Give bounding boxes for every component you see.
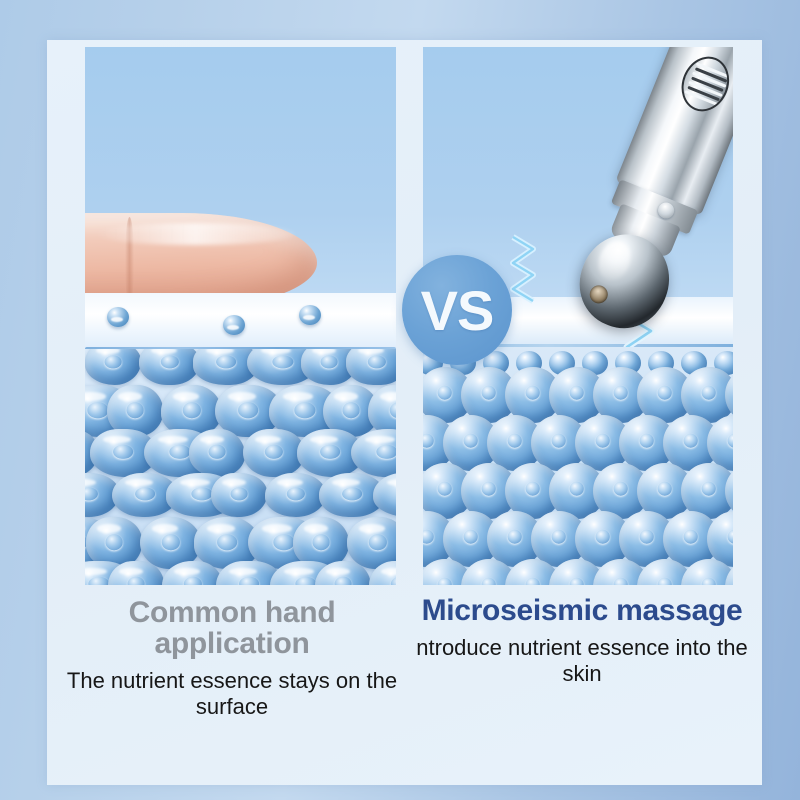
cell-nucleus xyxy=(88,577,109,585)
cell-nucleus xyxy=(701,577,716,585)
cell-nucleus xyxy=(701,385,716,400)
cell-nucleus xyxy=(463,433,478,448)
cell-nucleus xyxy=(367,356,385,369)
essence-droplet-icon xyxy=(223,315,245,335)
cell-highlight xyxy=(85,568,107,576)
cell-highlight xyxy=(283,392,313,400)
cell-highlight xyxy=(174,568,200,576)
cell-highlight xyxy=(85,392,106,400)
cell-highlight xyxy=(387,479,395,486)
cell-nucleus xyxy=(217,534,237,550)
cell-highlight xyxy=(207,524,235,532)
cell-highlight xyxy=(97,524,121,532)
cell-nucleus xyxy=(639,433,654,448)
cell-nucleus xyxy=(294,402,315,418)
cell-highlight xyxy=(261,349,291,354)
cell-nucleus xyxy=(183,577,201,585)
cell-highlight xyxy=(228,392,256,400)
cell-nucleus xyxy=(128,577,145,585)
dense-skin-cells-icon xyxy=(423,347,734,585)
cell-nucleus xyxy=(613,481,628,496)
cell-nucleus xyxy=(106,534,123,550)
cell-highlight xyxy=(312,349,336,354)
cell-highlight xyxy=(103,436,131,444)
cell-highlight xyxy=(119,568,143,576)
cell-nucleus xyxy=(272,356,293,369)
cell-highlight xyxy=(229,568,257,576)
cell-nucleus xyxy=(551,433,566,448)
cell-highlight xyxy=(310,436,338,444)
cell-highlight xyxy=(206,349,234,354)
cell-nucleus xyxy=(507,433,522,448)
caption-left: Common hand application The nutrient ess… xyxy=(57,595,407,775)
skin-cell xyxy=(85,349,141,385)
cell-nucleus xyxy=(161,534,179,550)
cell-highlight xyxy=(85,479,96,486)
cell-nucleus xyxy=(376,445,396,459)
cell-nucleus xyxy=(613,577,628,585)
cell-highlight xyxy=(118,392,142,400)
cell-highlight xyxy=(200,436,224,444)
cell-nucleus xyxy=(481,577,496,585)
cell-nucleus xyxy=(320,445,340,459)
cell-nucleus xyxy=(85,488,98,501)
cell-nucleus xyxy=(569,481,584,496)
cell-nucleus xyxy=(127,402,144,418)
cell-nucleus xyxy=(525,577,540,585)
cell-nucleus xyxy=(437,385,452,400)
cell-nucleus xyxy=(481,481,496,496)
cell-highlight xyxy=(381,568,395,576)
cell-nucleus xyxy=(286,488,304,501)
cell-highlight xyxy=(222,479,246,486)
cell-nucleus xyxy=(423,433,434,448)
cell-highlight xyxy=(304,524,328,532)
cell-nucleus xyxy=(313,534,330,550)
cell-highlight xyxy=(255,436,281,444)
cell-nucleus xyxy=(727,529,733,544)
cell-nucleus xyxy=(216,356,236,369)
cell-nucleus xyxy=(463,529,478,544)
cell-nucleus xyxy=(368,534,386,550)
vibration-wave-icon xyxy=(507,233,553,313)
cell-nucleus xyxy=(335,577,352,585)
caption-right-heading: Microseismic massage xyxy=(413,595,751,626)
cell-highlight xyxy=(158,436,188,444)
skin-cell xyxy=(265,473,326,517)
cell-nucleus xyxy=(639,529,654,544)
skin-cell xyxy=(243,429,304,477)
cell-nucleus xyxy=(169,445,190,459)
cell-nucleus xyxy=(423,529,434,544)
cell-highlight xyxy=(125,479,153,486)
cell-nucleus xyxy=(683,433,698,448)
caption-left-heading: Common hand application xyxy=(63,597,401,659)
cell-highlight xyxy=(152,524,178,532)
cell-nucleus xyxy=(238,402,258,418)
cell-nucleus xyxy=(295,577,316,585)
cell-nucleus xyxy=(507,529,522,544)
caption-right-subtitle: ntroduce nutrient essence into the skin xyxy=(413,635,751,686)
cell-nucleus xyxy=(182,402,200,418)
cell-highlight xyxy=(284,568,314,576)
cell-nucleus xyxy=(551,529,566,544)
cell-nucleus xyxy=(191,488,212,501)
cell-highlight xyxy=(334,392,358,400)
cell-nucleus xyxy=(727,433,733,448)
cell-nucleus xyxy=(343,402,360,418)
cell-highlight xyxy=(277,479,303,486)
cell-nucleus xyxy=(389,402,395,418)
cell-nucleus xyxy=(160,356,178,369)
cell-nucleus xyxy=(209,445,226,459)
cell-nucleus xyxy=(321,356,338,369)
cell-nucleus xyxy=(595,433,610,448)
cell-highlight xyxy=(332,479,360,486)
essence-droplet-icon xyxy=(107,307,129,327)
cell-nucleus xyxy=(569,385,584,400)
cell-nucleus xyxy=(342,488,362,501)
cell-nucleus xyxy=(657,385,672,400)
control-dial-icon xyxy=(673,49,733,118)
cell-highlight xyxy=(262,524,292,532)
essence-droplet-icon xyxy=(299,305,321,325)
cell-nucleus xyxy=(135,488,155,501)
cell-nucleus xyxy=(105,356,122,369)
skin-cell xyxy=(139,349,200,385)
fingertip-highlight xyxy=(95,223,295,245)
cell-highlight xyxy=(151,349,177,354)
loose-skin-cells-icon xyxy=(85,349,396,585)
caption-left-subtitle: The nutrient essence stays on the surfac… xyxy=(63,668,401,719)
cell-nucleus xyxy=(273,534,294,550)
cell-highlight xyxy=(180,479,210,486)
cell-nucleus xyxy=(437,481,452,496)
cell-nucleus xyxy=(701,481,716,496)
cell-nucleus xyxy=(113,445,133,459)
cell-highlight xyxy=(380,392,395,400)
cell-nucleus xyxy=(657,577,672,585)
comparison-card: VS Common hand application The nutrient … xyxy=(47,40,762,785)
caption-right: Microseismic massage ntroduce nutrient e… xyxy=(407,595,757,775)
cell-nucleus xyxy=(595,529,610,544)
cell-nucleus xyxy=(525,385,540,400)
cell-nucleus xyxy=(613,385,628,400)
cell-highlight xyxy=(326,568,350,576)
cell-highlight xyxy=(365,436,395,444)
cell-nucleus xyxy=(437,577,452,585)
versus-label: VS xyxy=(421,278,494,343)
cell-highlight xyxy=(173,392,199,400)
skin-cell xyxy=(189,429,245,477)
cell-highlight xyxy=(96,349,120,354)
cell-nucleus xyxy=(481,385,496,400)
cell-nucleus xyxy=(683,529,698,544)
cell-nucleus xyxy=(264,445,282,459)
cell-nucleus xyxy=(239,577,259,585)
cell-nucleus xyxy=(390,577,395,585)
cell-nucleus xyxy=(87,402,108,418)
cell-highlight xyxy=(359,524,385,532)
skin-cell xyxy=(346,349,396,385)
cell-nucleus xyxy=(657,481,672,496)
versus-badge: VS xyxy=(402,255,512,365)
cell-nucleus xyxy=(525,481,540,496)
cell-highlight xyxy=(358,349,384,354)
caption-row: Common hand application The nutrient ess… xyxy=(57,595,757,775)
skin-cell xyxy=(211,473,267,517)
cell-nucleus xyxy=(569,577,584,585)
product-comparison-graphic: VS Common hand application The nutrient … xyxy=(0,0,800,800)
cell-nucleus xyxy=(231,488,248,501)
panel-common-hand-application xyxy=(85,47,396,585)
